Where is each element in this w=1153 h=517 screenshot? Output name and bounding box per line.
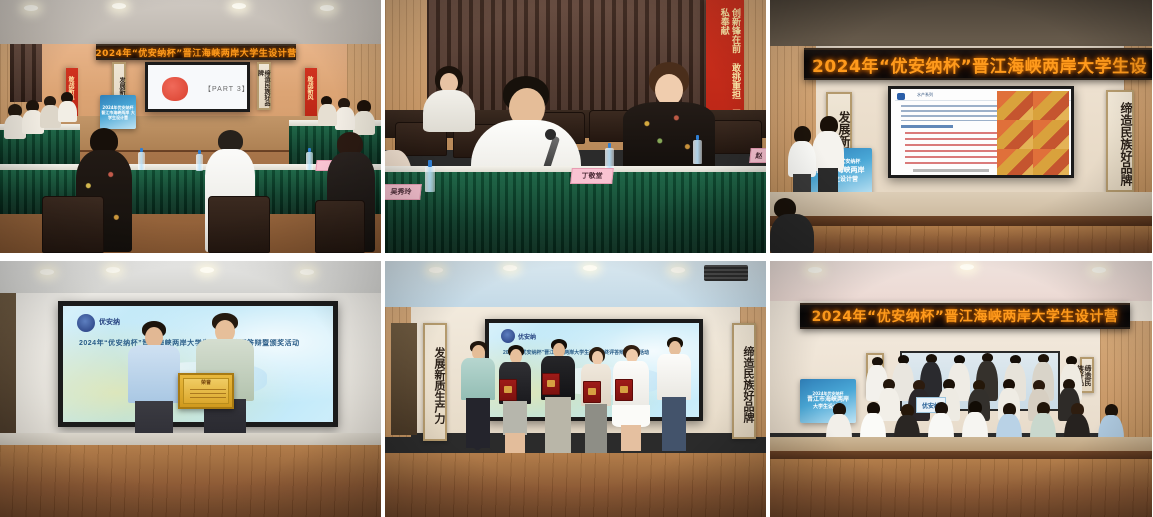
led-banner: 2024年“优安纳杯”晋江海峡两岸大学生设计营 <box>800 303 1130 329</box>
attendee <box>58 92 77 122</box>
slide-table <box>905 132 999 164</box>
downlight-icon <box>112 3 126 9</box>
screen-seal-icon <box>162 77 188 101</box>
screen-part-label: 【PART 3】 <box>204 84 247 94</box>
certificate <box>542 373 560 395</box>
screen-brand-name: 优安纳 <box>99 317 120 327</box>
photo-tile-4[interactable]: 优安纳 2024年“优安纳杯”晋江海峡两岸大学生设计营终评答辩暨颁奖活动 <box>0 261 381 517</box>
chair <box>42 196 104 253</box>
water-bottle <box>693 140 702 164</box>
downlight-icon <box>40 269 54 275</box>
downlight-icon <box>960 264 974 270</box>
screen-brand-name: 优安纳 <box>518 332 536 341</box>
slide-food-photos <box>997 91 1069 178</box>
water-bottle <box>306 152 313 170</box>
curtain-left <box>10 44 42 102</box>
certificate <box>615 379 633 401</box>
assistant-woman <box>788 126 816 200</box>
legs <box>585 404 607 454</box>
stage-floor <box>385 453 766 517</box>
torso <box>58 101 77 122</box>
photo-1-scene: 敢战新风 敢战新风 2024年“优安纳杯”晋江海峡两岸大学生设计营 【PART … <box>0 0 381 253</box>
downlight-icon <box>300 269 314 275</box>
staff-member-right <box>657 337 691 461</box>
legs <box>466 398 490 450</box>
torso <box>335 107 355 130</box>
photo-gallery-grid: 敢战新风 敢战新风 2024年“优安纳杯”晋江海峡两岸大学生设计营 【PART … <box>0 0 1153 517</box>
downlight-icon <box>24 5 38 11</box>
water-bottle <box>138 152 145 170</box>
award-winner <box>541 339 575 461</box>
legs-cargo <box>545 397 571 453</box>
attendee <box>335 98 355 130</box>
room-floor <box>0 445 381 517</box>
podium-sign-text: 2024年优安纳杯 晋江市海峡两岸 大学生设计营 <box>100 105 136 120</box>
seated-woman-background <box>423 66 475 132</box>
certificate <box>583 381 601 403</box>
torso <box>812 131 844 171</box>
photo-2-scene: 创新锋在前 敢挑重担 无私奉献 <box>385 0 766 253</box>
attendee <box>318 96 337 126</box>
seated-attendee-front <box>770 198 814 253</box>
downlight-icon <box>671 267 685 273</box>
plaque-text: 荣誉 <box>180 379 232 386</box>
torso <box>423 90 475 132</box>
legs-skin <box>505 433 525 453</box>
downlight-icon <box>429 267 443 273</box>
name-card-right: 赵 <box>749 148 766 163</box>
calligraphy-scroll-right: 缔造民族好品牌 <box>257 62 271 110</box>
certificate <box>499 379 517 401</box>
screen-event-title: 2024年“优安纳杯”晋江海峡两岸大学生设计营终评答辩暨颁奖活动 <box>79 338 300 348</box>
presentation-screen: 水产系列 <box>888 86 1074 178</box>
room-floor <box>770 459 1152 517</box>
photo-tile-2[interactable]: 创新锋在前 敢挑重担 无私奉献 <box>385 0 766 253</box>
downlight-icon <box>106 267 120 273</box>
slide-paragraph <box>901 105 999 121</box>
water-bottle <box>196 154 203 171</box>
legs <box>621 425 641 451</box>
microphone-head-icon <box>545 129 556 140</box>
led-banner: 2024年“优安纳杯”晋江海峡两岸大学生设计营 <box>96 44 296 60</box>
torso-white-shirt <box>657 354 691 400</box>
photo-3-scene: 2024年“优安纳杯”晋江海峡两岸大学生设 发展新质 缔造民族好品牌 水产系列 … <box>770 0 1152 253</box>
slide-title: 水产系列 <box>917 92 933 98</box>
door-left <box>391 323 417 435</box>
skirt <box>612 405 650 427</box>
led-banner-text: 2024年“优安纳杯”晋江海峡两岸大学生设计营 <box>812 306 1119 326</box>
torso-blue-shirt <box>128 345 180 403</box>
door-frame-left <box>0 293 16 447</box>
chair <box>315 200 365 253</box>
slide-logo-icon <box>897 93 905 100</box>
downlight-icon <box>503 265 517 271</box>
calligraphy-scroll-right: 缔造民族好品牌 <box>732 323 756 439</box>
photo-tile-5[interactable]: 发展新质生产力 缔造民族好品牌 优安纳 2024年“优安纳杯”晋江海峡两岸大学生… <box>385 261 766 517</box>
water-bottle <box>425 166 435 192</box>
presenter-woman <box>812 116 844 198</box>
downlight-icon <box>320 5 334 11</box>
screen-brand-logo <box>501 329 515 343</box>
torso <box>788 141 816 177</box>
screen-brand-logo <box>77 314 95 332</box>
downlight-icon <box>808 267 822 273</box>
award-plaque: 荣誉 <box>178 373 234 409</box>
podium-sign: 2024年优安纳杯 晋江市海峡两岸 大学生设计营 <box>100 95 136 129</box>
legs-jeans <box>662 397 686 451</box>
legs-shorts <box>503 401 527 435</box>
chair <box>208 196 270 253</box>
photo-5-scene: 发展新质生产力 缔造民族好品牌 优安纳 2024年“优安纳杯”晋江海峡两岸大学生… <box>385 261 766 517</box>
attendee <box>353 100 375 134</box>
photo-tile-1[interactable]: 敢战新风 敢战新风 2024年“优安纳杯”晋江海峡两岸大学生设计营 【PART … <box>0 0 381 253</box>
led-banner: 2024年“优安纳杯”晋江海峡两岸大学生设 <box>804 48 1152 80</box>
ac-vent <box>704 265 748 281</box>
calligraphy-scroll-right: 缔造民族好品牌 <box>1106 90 1134 192</box>
downlight-icon <box>1092 267 1106 273</box>
downlight-icon <box>583 265 597 271</box>
torso <box>318 104 337 126</box>
plaque-engraving <box>190 389 226 401</box>
calligraphy-scroll-left: 发展新质生产力 <box>423 323 447 441</box>
presenter <box>461 341 495 459</box>
slide-footnote <box>913 169 989 172</box>
award-winner <box>581 347 611 461</box>
red-banner-right: 敢战新风 <box>305 68 317 120</box>
name-card-left: 吴秀玲 <box>385 184 422 200</box>
photo-4-scene: 优安纳 2024年“优安纳杯”晋江海峡两岸大学生设计营终评答辩暨颁奖活动 <box>0 261 381 517</box>
torso-teal-polo <box>461 358 495 400</box>
award-winner <box>499 345 531 461</box>
judges-table-skirt <box>385 172 766 253</box>
torso <box>770 214 814 253</box>
face <box>592 351 603 365</box>
led-banner-text: 2024年“优安纳杯”晋江海峡两岸大学生设计营 <box>96 46 296 59</box>
downlight-icon <box>232 3 246 9</box>
led-banner-text: 2024年“优安纳杯”晋江海峡两岸大学生设 <box>812 52 1147 77</box>
ceiling <box>0 261 381 295</box>
award-winner <box>613 345 649 463</box>
photo-tile-3[interactable]: 2024年“优安纳杯”晋江海峡两岸大学生设 发展新质 缔造民族好品牌 水产系列 … <box>770 0 1152 253</box>
slide-subhead <box>901 125 953 128</box>
ceiling <box>770 0 1152 48</box>
photo-6-scene: 2024年“优安纳杯”晋江海峡两岸大学生设计营 发展新质 缔造民族好品牌 202… <box>770 261 1152 517</box>
name-card-center: 丁敬堂 <box>570 168 614 184</box>
room-floor <box>770 226 1152 253</box>
photo-tile-6[interactable]: 2024年“优安纳杯”晋江海峡两岸大学生设计营 发展新质 缔造民族好品牌 202… <box>770 261 1152 517</box>
downlight-icon <box>200 267 214 273</box>
presentation-screen: 【PART 3】 <box>145 62 250 112</box>
